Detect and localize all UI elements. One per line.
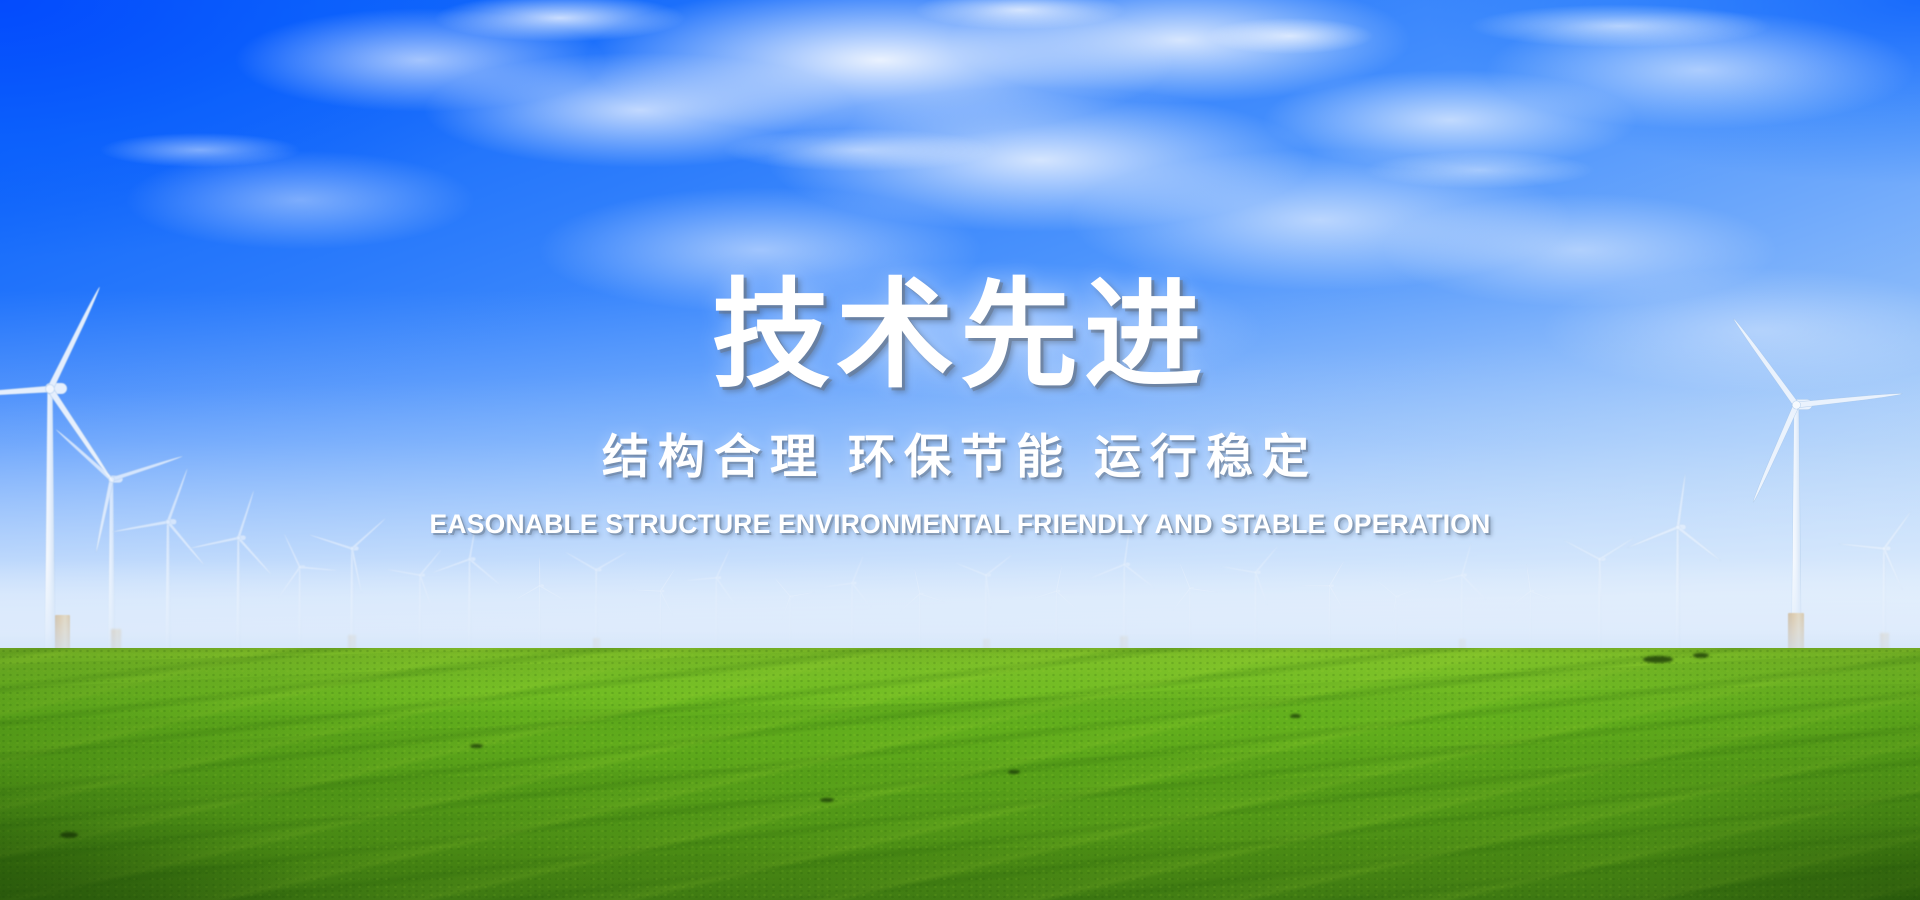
turbine-left-3: [138, 505, 198, 655]
turbine-mid-21: [1516, 583, 1545, 655]
wind-turbine-field: [0, 0, 1920, 655]
turbine-mid-22: [1578, 547, 1621, 655]
turbine-mid-12: [906, 586, 934, 655]
turbine-mid-10: [777, 589, 803, 655]
turbine-mid-16: [1175, 580, 1205, 655]
grass-dirt-patch-6: [1290, 714, 1301, 718]
grass-dirt-patch-4: [60, 832, 78, 838]
turbine-mid-19: [1383, 589, 1409, 655]
grass-dirt-patch-5: [470, 744, 483, 748]
grass-dirt-patch-3: [1008, 770, 1020, 774]
turbine-mid-2: [280, 556, 320, 655]
turbine-mid-1: [212, 523, 265, 655]
turbine-mid-18: [1314, 577, 1345, 655]
turbine-mid-14: [1042, 583, 1071, 655]
turbine-mid-4: [402, 565, 438, 655]
turbine-right-2: [1649, 511, 1707, 655]
turbine-mid-5: [448, 547, 491, 655]
grass-field: [0, 648, 1920, 900]
grass-dirt-patch-7: [820, 798, 834, 802]
grass-dirt-patch-1: [1643, 656, 1673, 663]
wind-farm-banner: 技术先进 结构合理 环保节能 运行稳定 EASONABLE STRUCTURE …: [0, 0, 1920, 900]
turbine-mid-9: [699, 568, 734, 655]
grass-dirt-patch-2: [1693, 653, 1709, 658]
turbine-mid-8: [646, 583, 675, 655]
turbine-mid-17: [1237, 562, 1274, 655]
turbine-mid-11: [836, 574, 868, 655]
turbine-mid-6: [524, 577, 555, 655]
